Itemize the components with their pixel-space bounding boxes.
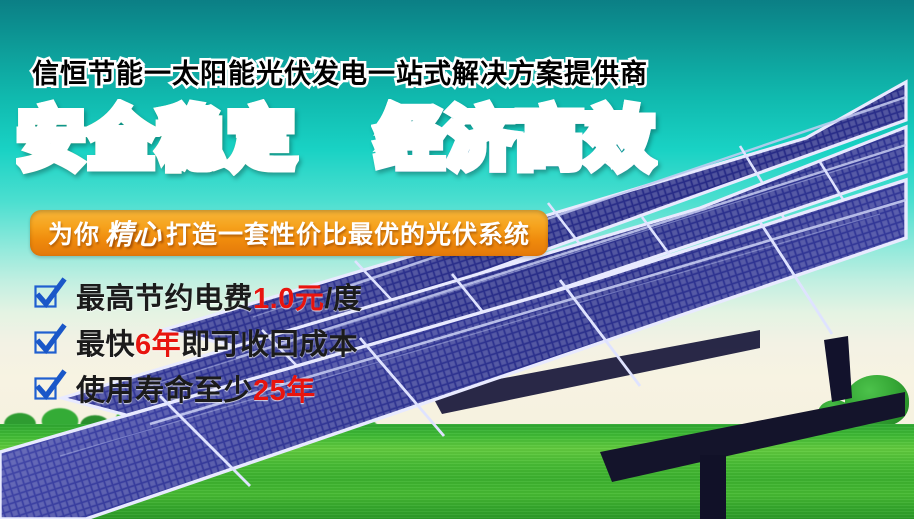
tagline-suffix: 打造一套性价比最优的光伏系统: [166, 215, 530, 251]
feature-list: 最高节约电费1.0元/度 最快6年即可收回成本 使用: [34, 274, 362, 412]
bullet-2-highlight: 6年: [135, 329, 181, 361]
list-item: 最高节约电费1.0元/度: [34, 274, 362, 318]
list-item-text: 最高节约电费1.0元/度: [76, 275, 362, 317]
bullet-1-part-1: 最高节约电费: [76, 283, 253, 315]
bullet-1-highlight: 1.0元: [253, 283, 324, 315]
bullet-1-part-3: /度: [324, 283, 362, 315]
hero-title-blue: 经济高效: [377, 102, 657, 176]
bullet-3-highlight: 25年: [253, 375, 316, 407]
list-item-text: 最快6年即可收回成本: [76, 321, 358, 363]
bullet-2-part-1: 最快: [76, 329, 135, 361]
list-item: 最快6年即可收回成本: [34, 320, 362, 364]
list-item-text: 使用寿命至少25年: [76, 367, 316, 409]
page-title: 信恒节能一太阳能光伏发电一站式解决方案提供商: [32, 52, 648, 91]
promo-banner: 信恒节能一太阳能光伏发电一站式解决方案提供商 安全稳定 经济高效 为你 精心 打…: [0, 0, 914, 519]
bullet-2-part-3: 即可收回成本: [181, 329, 358, 361]
hero-title-green: 安全稳定: [18, 102, 298, 176]
tagline-ribbon: 为你 精心 打造一套性价比最优的光伏系统: [30, 210, 548, 256]
list-item: 使用寿命至少25年: [34, 366, 362, 410]
checkbox-checked-icon: [34, 283, 60, 309]
tagline-prefix: 为你: [48, 215, 100, 251]
hero-title: 安全稳定 经济高效: [18, 106, 657, 172]
tagline-accent: 精心: [100, 213, 166, 253]
checkbox-checked-icon: [34, 375, 60, 401]
checkbox-checked-icon: [34, 329, 60, 355]
bullet-3-part-1: 使用寿命至少: [76, 375, 253, 407]
